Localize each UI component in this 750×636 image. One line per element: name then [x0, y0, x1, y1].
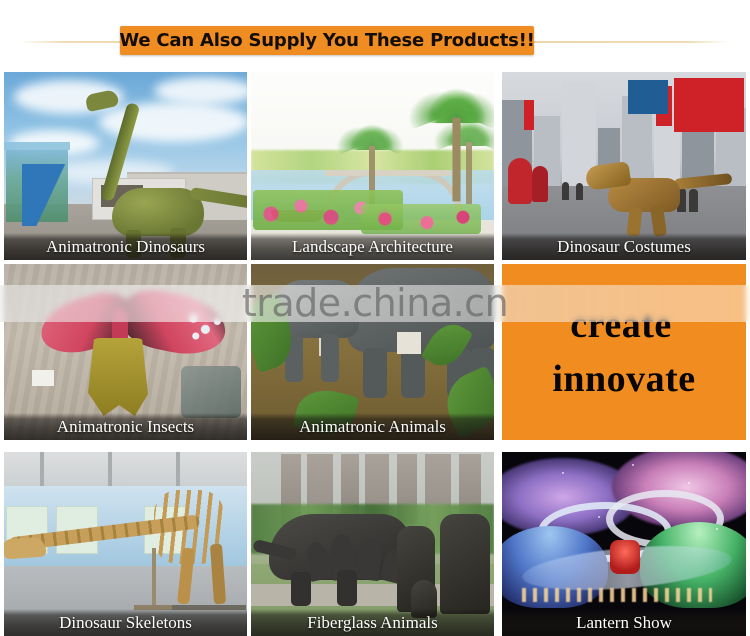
header-banner-text: We Can Also Supply You These Products!!: [119, 30, 534, 51]
product-card-animatronic-insects[interactable]: Animatronic Insects: [4, 264, 247, 440]
photo-dinosaur-skeletons: [4, 452, 247, 636]
product-card-dinosaur-costumes[interactable]: Dinosaur Costumes: [502, 72, 746, 260]
product-card-dinosaur-skeletons[interactable]: Dinosaur Skeletons: [4, 452, 247, 636]
photo-animatronic-insects: [4, 264, 247, 440]
photo-dinosaur-costumes: [502, 72, 746, 260]
product-card-animatronic-dinosaurs[interactable]: Animatronic Dinosaurs: [4, 72, 247, 260]
product-card-fiberglass-animals[interactable]: Fiberglass Animals: [251, 452, 494, 636]
photo-animatronic-dinosaurs: [4, 72, 247, 260]
promo-line-1: create: [570, 306, 671, 344]
photo-lantern-show: [502, 452, 746, 636]
promo-content: create innovate: [502, 264, 746, 440]
photo-fiberglass-animals: [251, 452, 494, 636]
photo-landscape-architecture: [251, 72, 494, 260]
product-grid: Animatronic Dinosaurs Landscape Architec…: [0, 72, 750, 636]
product-card-animatronic-animals[interactable]: Animatronic Animals: [251, 264, 494, 440]
page-header: We Can Also Supply You These Products!!: [0, 0, 750, 72]
product-card-landscape-architecture[interactable]: Landscape Architecture: [251, 72, 494, 260]
promo-line-2: innovate: [552, 360, 695, 398]
product-card-lantern-show[interactable]: Lantern Show: [502, 452, 746, 636]
promo-panel: create innovate: [502, 264, 746, 440]
header-banner: We Can Also Supply You These Products!!: [120, 26, 534, 55]
photo-animatronic-animals: [251, 264, 494, 440]
